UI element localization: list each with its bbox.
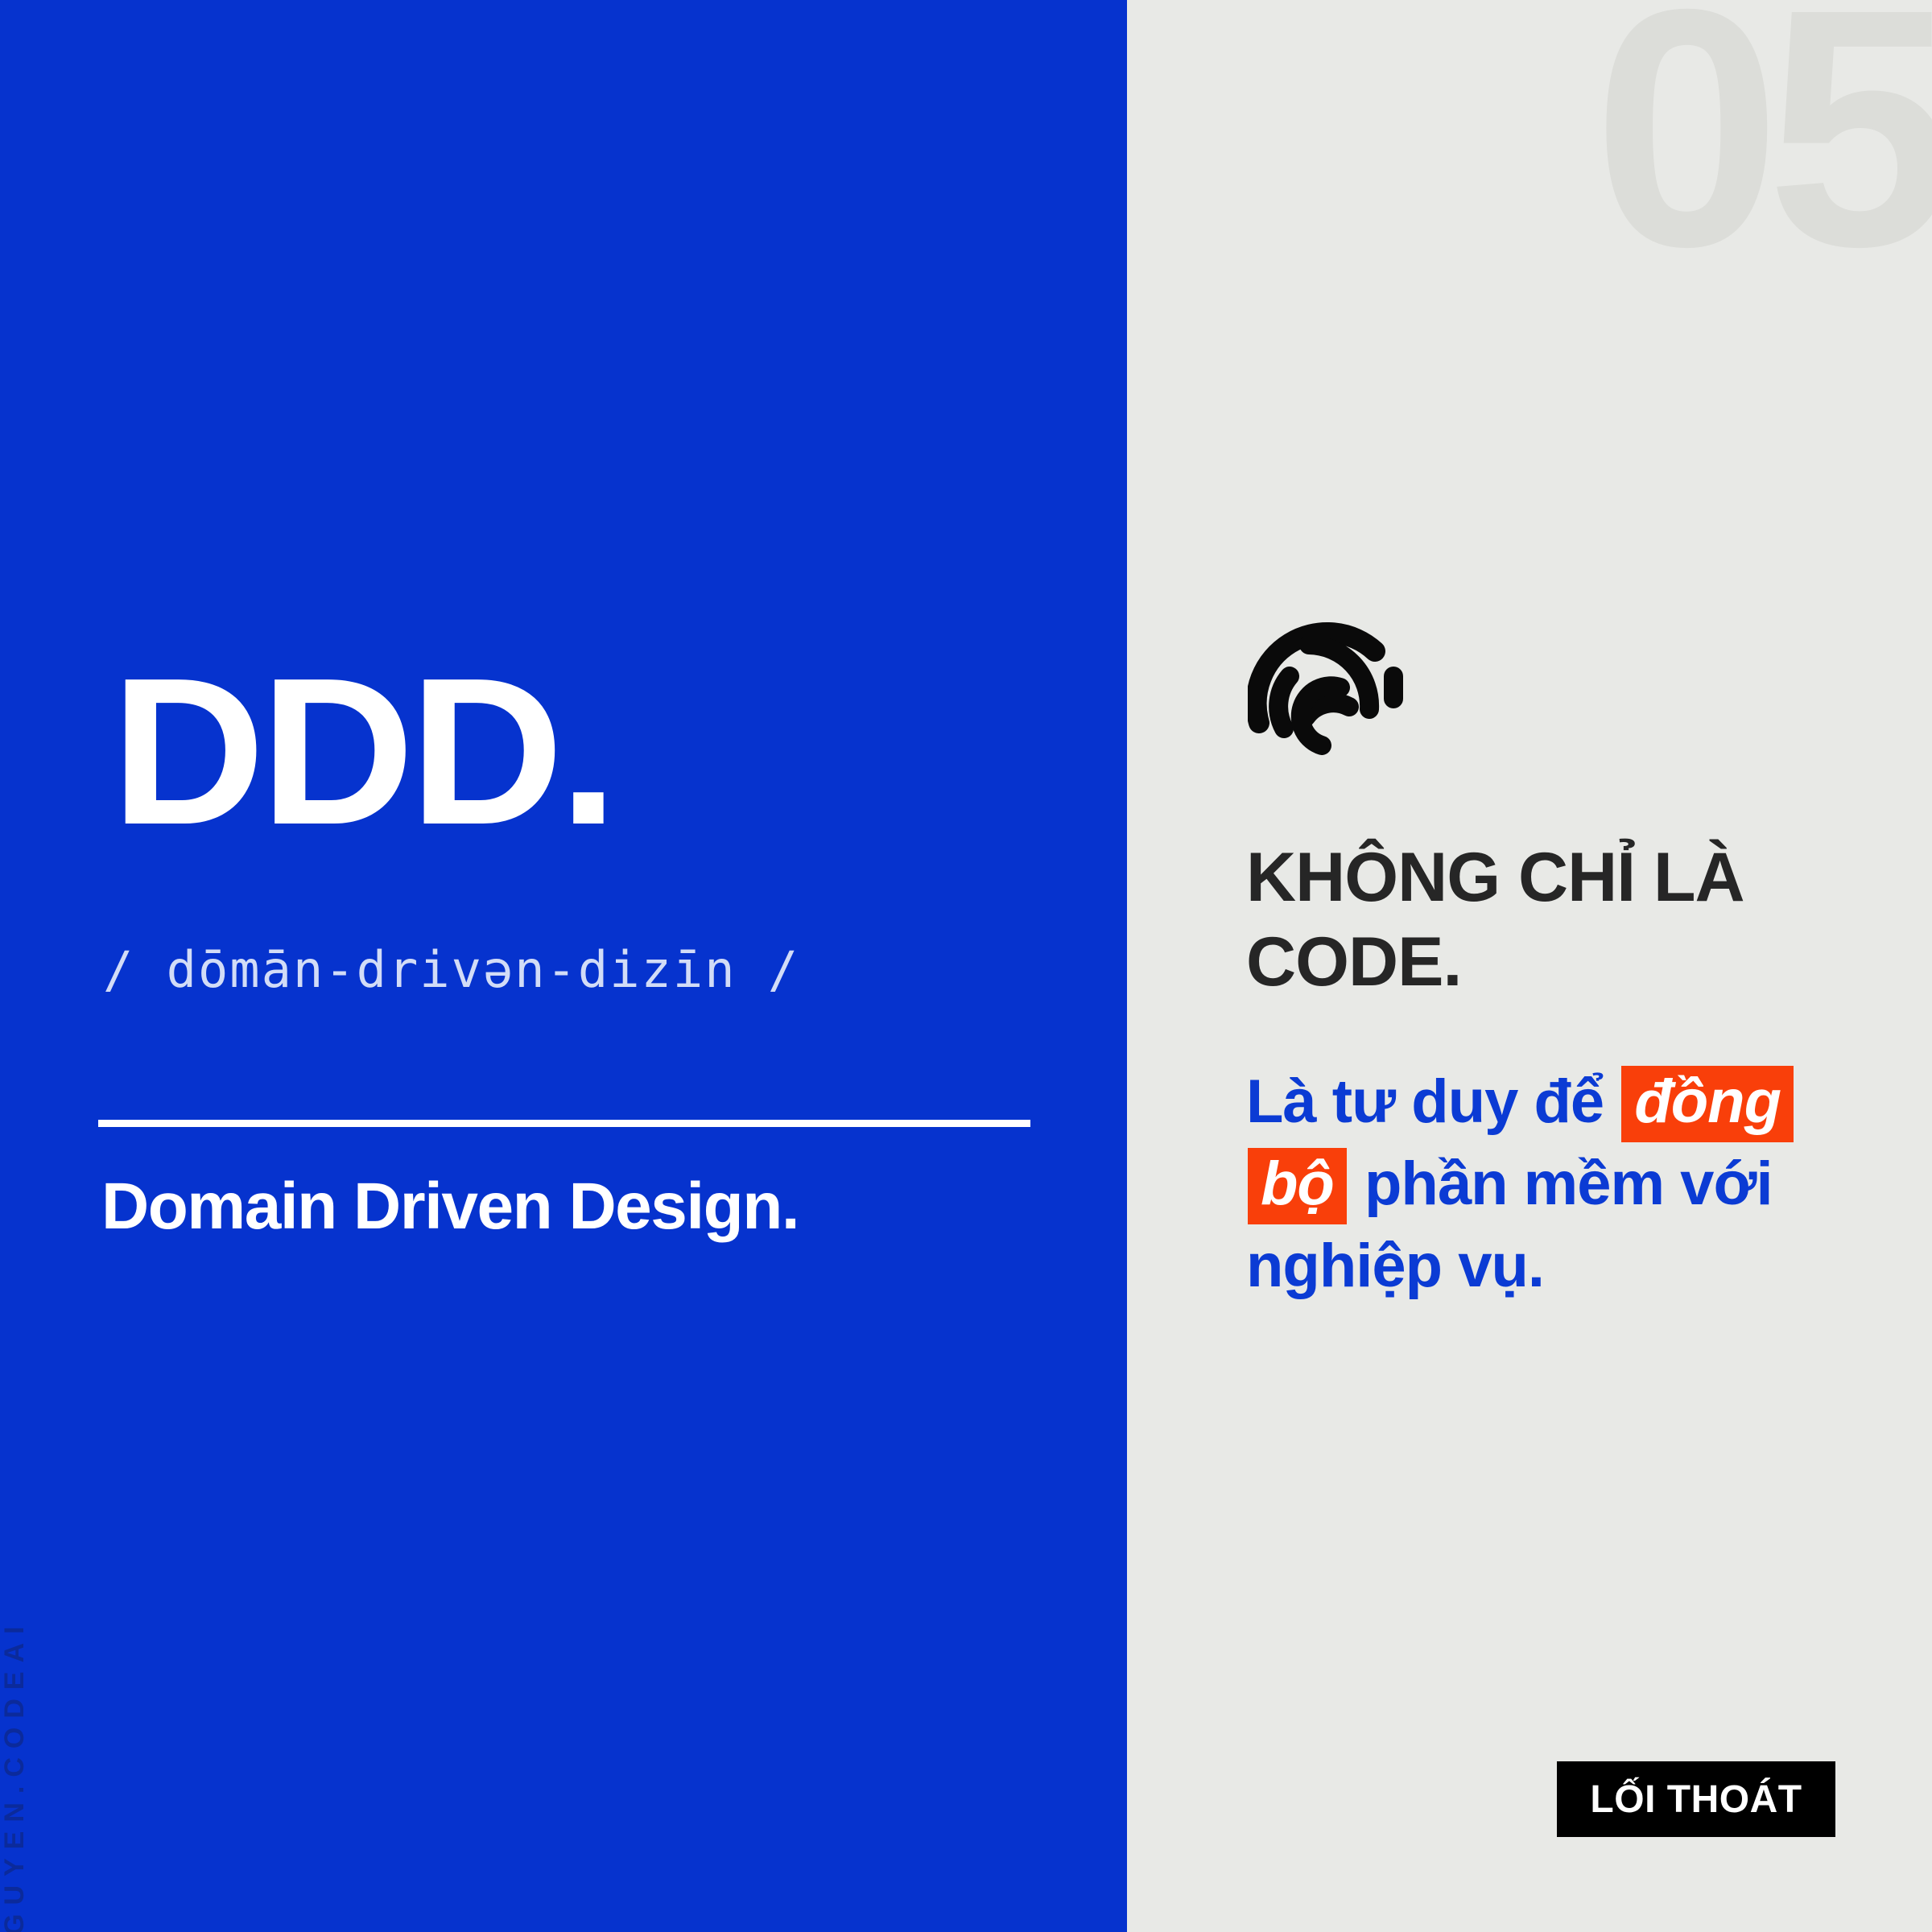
page-title: DDD. bbox=[111, 660, 613, 844]
section-heading: KHÔNG CHỈ LÀ CODE. bbox=[1246, 836, 1882, 1005]
fingerprint-icon bbox=[1248, 602, 1417, 755]
slide-card: DDD. / dōmān-drivən-dizīn / Domain Drive… bbox=[0, 0, 1932, 1932]
body-text-before: Là tư duy để bbox=[1246, 1067, 1604, 1136]
step-number: 05 bbox=[1593, 0, 1932, 298]
watermark: GUYEN.CODEAI bbox=[31, 1602, 95, 1932]
exit-button-label: LỐI THOÁT bbox=[1590, 1777, 1802, 1822]
left-blue-panel: DDD. / dōmān-drivən-dizīn / Domain Drive… bbox=[0, 0, 1127, 1932]
subtitle: Domain Driven Design. bbox=[101, 1169, 799, 1245]
right-content-panel: 05 KHÔNG CHỈ LÀ CODE bbox=[1127, 0, 1932, 1932]
exit-button[interactable]: LỐI THOÁT bbox=[1557, 1761, 1835, 1837]
watermark-label: GUYEN.CODEAI bbox=[0, 1617, 31, 1932]
divider bbox=[98, 1120, 1030, 1127]
section-body: Là tư duy để đồng bộ phần mềm với nghiệp… bbox=[1246, 1061, 1882, 1307]
phonetic-pronunciation: / dōmān-drivən-dizīn / bbox=[103, 940, 799, 999]
